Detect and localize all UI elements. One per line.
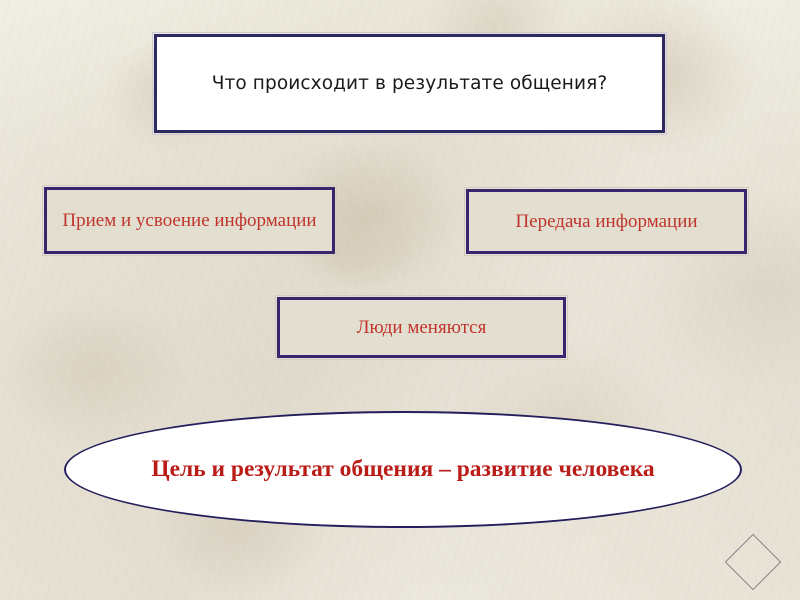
conclusion-ellipse: Цель и результат общения – развитие чело…: [64, 411, 742, 528]
conclusion-text: Цель и результат общения – развитие чело…: [93, 454, 712, 485]
fact-box-change: Люди меняются: [277, 297, 566, 358]
fact-box-reception: Прием и усвоение информации: [44, 187, 335, 254]
title-box: Что происходит в результате общения?: [154, 34, 665, 133]
slide-canvas: Что происходит в результате общения? При…: [0, 0, 800, 600]
fact-box-reception-label: Прием и усвоение информации: [62, 208, 316, 233]
fact-box-transfer-label: Передача информации: [515, 209, 697, 234]
title-text: Что происходит в результате общения?: [212, 72, 608, 95]
fact-box-change-label: Люди меняются: [357, 315, 487, 340]
fact-box-transfer: Передача информации: [466, 189, 747, 254]
